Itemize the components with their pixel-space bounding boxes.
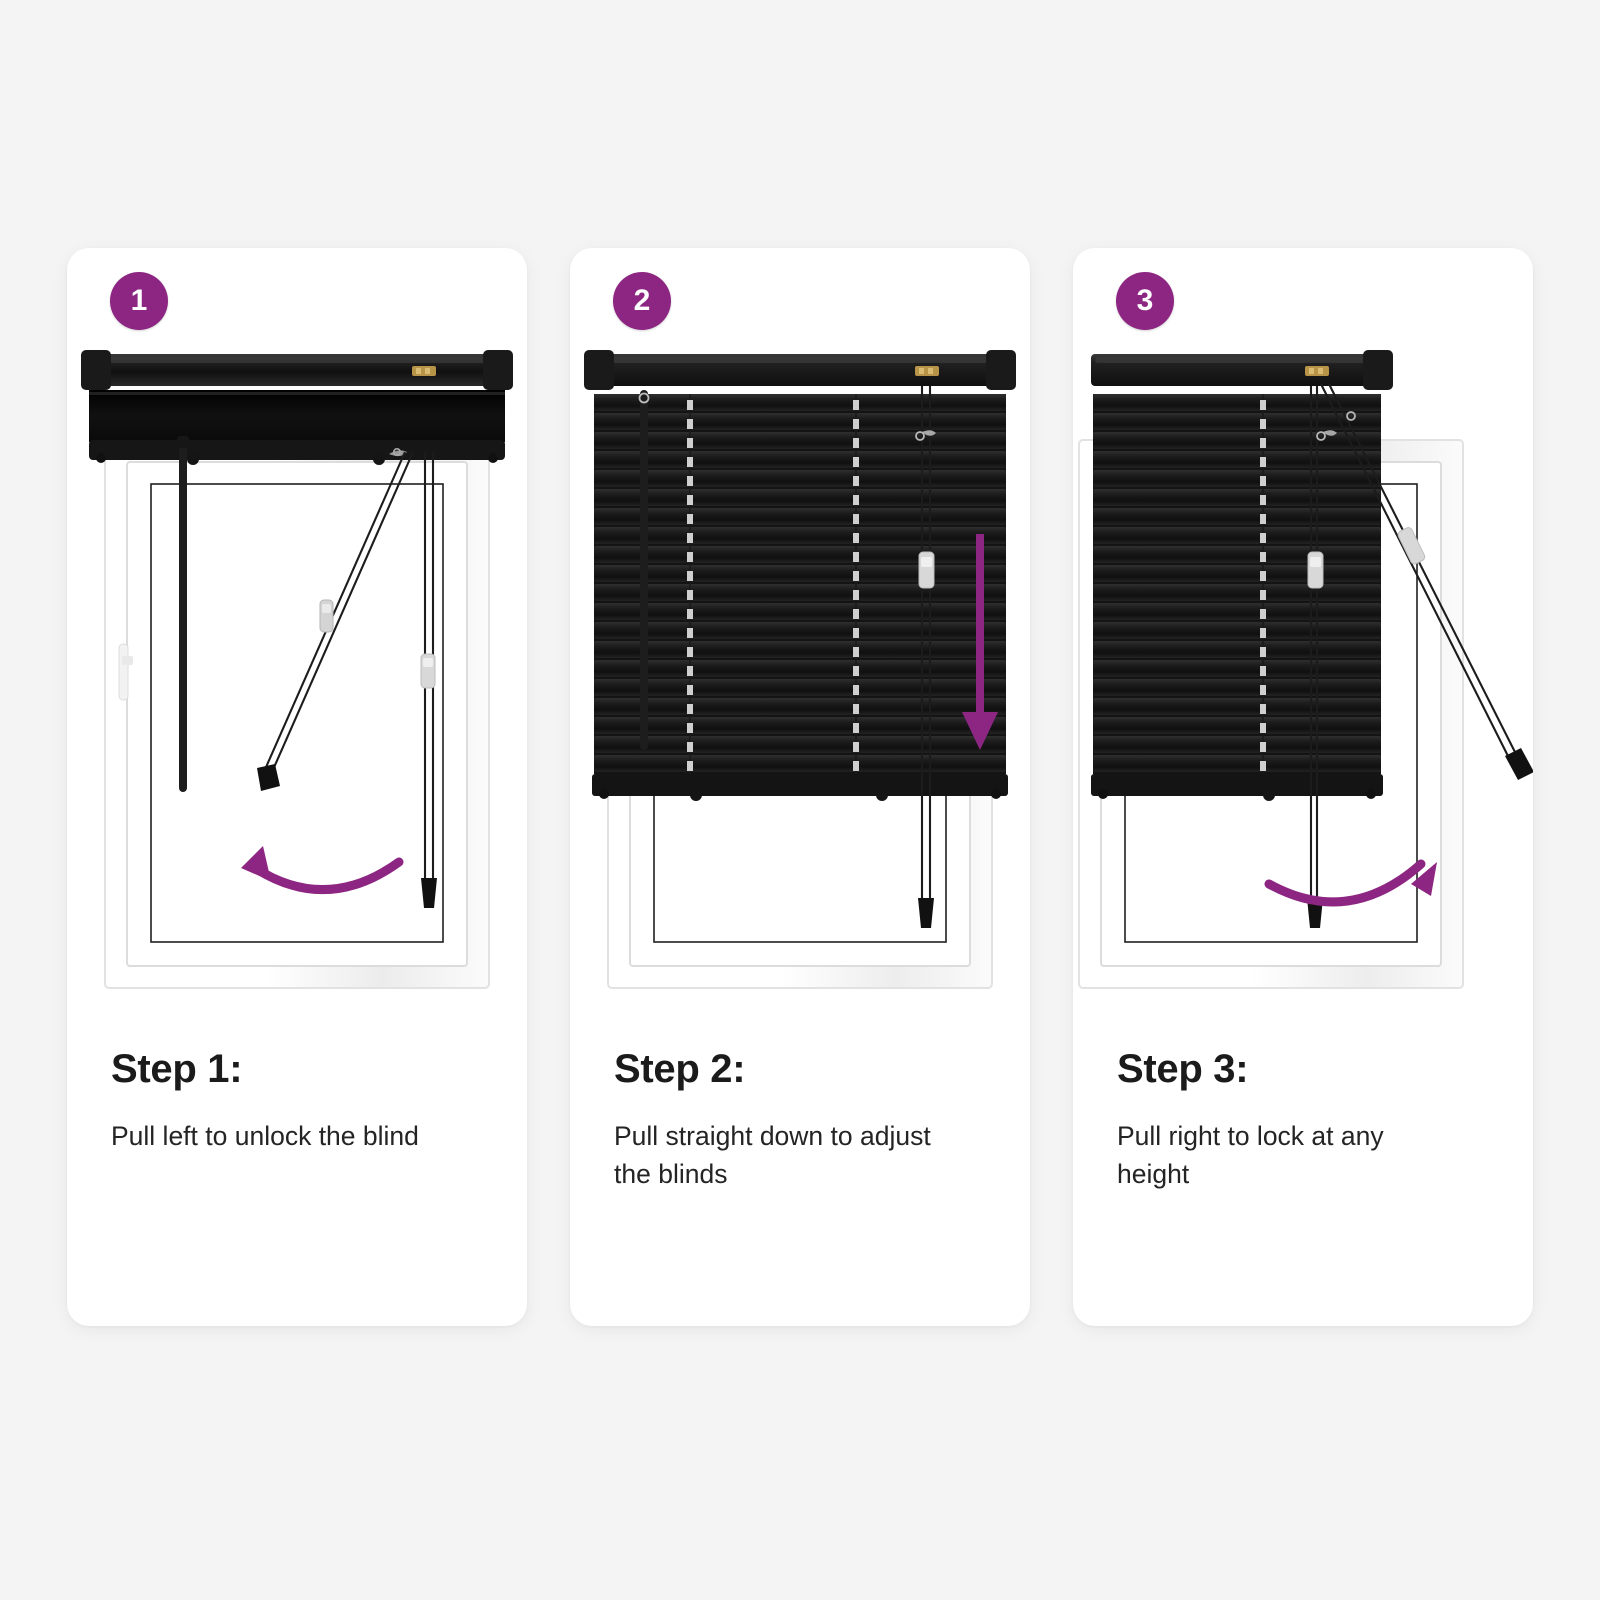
step-badge-1-number: 1 [131, 286, 148, 316]
steps-board: 1 [0, 0, 1600, 1600]
step-badge-3-number: 3 [1137, 286, 1154, 316]
step-3-description: Pull right to lock at any height [1117, 1118, 1447, 1194]
step-3-caption: Step 3: Pull right to lock at any height [1117, 1048, 1503, 1194]
step-2-caption: Step 2: Pull straight down to adjust the… [614, 1048, 1000, 1194]
step-card-2: 2 [570, 248, 1030, 1326]
blind-headrail-raised [81, 350, 513, 465]
step-2-title: Step 2: [614, 1048, 1000, 1090]
blind-slats [1091, 394, 1383, 801]
cord-tassel-right [1505, 748, 1533, 780]
step-1-caption: Step 1: Pull left to unlock the blind [111, 1048, 497, 1156]
step-badge-3: 3 [1116, 272, 1174, 330]
step-badge-2-number: 2 [634, 286, 651, 316]
step-2-description: Pull straight down to adjust the blinds [614, 1118, 944, 1194]
blind-slats [592, 394, 1008, 801]
step-card-3: 3 [1073, 248, 1533, 1326]
cord-connector-left [320, 600, 333, 632]
step-1-description: Pull left to unlock the blind [111, 1118, 441, 1156]
step-badge-1: 1 [110, 272, 168, 330]
step-3-title: Step 3: [1117, 1048, 1503, 1090]
tilt-wand [640, 390, 648, 750]
step-1-title: Step 1: [111, 1048, 497, 1090]
cord-connector [919, 552, 934, 588]
cord-connector-right [421, 654, 435, 688]
step-card-1: 1 [67, 248, 527, 1326]
cord-connector-vertical [1308, 552, 1323, 588]
step-1-illustration [67, 344, 527, 1044]
step-badge-2: 2 [613, 272, 671, 330]
step-2-illustration [570, 344, 1030, 1044]
step-3-illustration [1073, 344, 1533, 1044]
